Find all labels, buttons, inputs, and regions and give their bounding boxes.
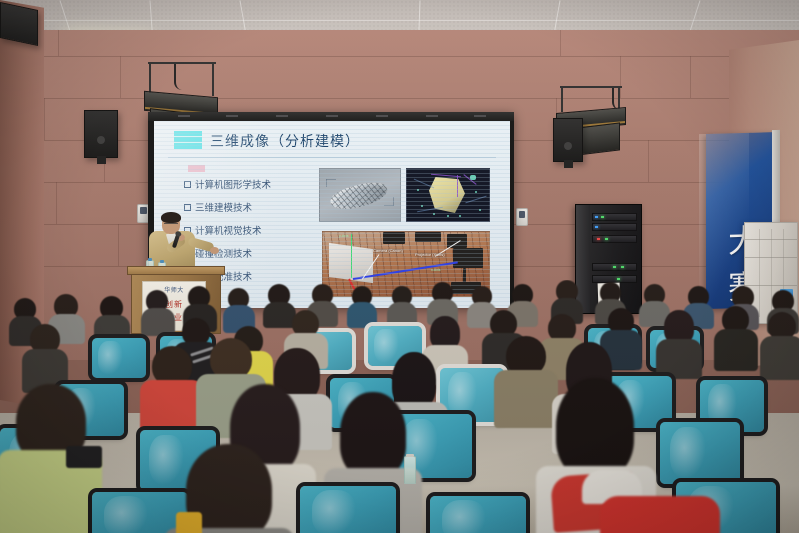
podium-top-surface <box>127 266 225 275</box>
list-item: 计算机图形学技术 <box>184 177 314 191</box>
y-axis-label: y-Axis <box>339 234 349 238</box>
y-axis-line <box>351 234 352 278</box>
speaker-cone <box>97 136 105 144</box>
wall-panel-joint <box>648 140 649 182</box>
chair[interactable] <box>300 486 396 533</box>
figure-guide-line <box>326 179 336 180</box>
torso <box>141 308 175 336</box>
camera-annotation-label: Camera (Canon) <box>373 248 403 253</box>
chair[interactable] <box>660 422 740 484</box>
cloud-point <box>447 215 449 217</box>
torso <box>656 339 702 379</box>
cloud-point <box>470 175 476 180</box>
projector-annotation-label: Projector (Xsiris) <box>415 252 445 257</box>
slide-highlight-mark <box>188 165 205 172</box>
torso <box>714 329 758 371</box>
panel-display <box>519 211 525 218</box>
equipment-silhouette <box>383 232 405 244</box>
speaker-mount <box>97 156 106 164</box>
laptop-device <box>66 446 102 468</box>
bottle-cap <box>406 454 414 457</box>
rig-post <box>561 86 563 112</box>
torso <box>494 370 558 428</box>
wall-panel-joint <box>58 30 59 56</box>
wall-control-panel-right[interactable] <box>516 208 528 226</box>
3d-mesh-shape <box>328 179 389 213</box>
point-cloud-figure <box>406 168 490 222</box>
cloud-point <box>433 213 435 215</box>
screen-top-bezel <box>148 112 514 121</box>
presenter-hand-right <box>210 247 219 254</box>
torso <box>387 302 417 328</box>
mesh-model-figure <box>319 168 401 222</box>
projector-device <box>453 248 483 268</box>
cloud-wire <box>414 179 435 189</box>
figure-guide-line <box>326 179 327 187</box>
slide-title-rule <box>168 157 496 158</box>
figure-guide-line <box>393 197 394 206</box>
presenter-hair <box>161 212 181 223</box>
rack-unit[interactable] <box>592 213 637 221</box>
wall-panel-joint <box>118 224 119 266</box>
bottle-cap <box>160 260 164 263</box>
cloud-point <box>421 205 423 207</box>
cloud-wire <box>465 196 486 204</box>
bottle-cap <box>148 258 152 261</box>
equipment-silhouette <box>415 232 441 242</box>
x-axis-label: x-Axis <box>431 268 441 272</box>
lecture-hall-photo: 三维成像（分析建模） 计算机图形学技术 三维建模技术 计算机视觉技术 <box>0 0 799 533</box>
ceiling-grid-line <box>0 20 799 21</box>
speaker-cone <box>564 142 572 150</box>
torso <box>600 496 720 533</box>
list-item: 三维建模技术 <box>184 200 314 214</box>
bullet-label: 三维建模技术 <box>195 200 252 214</box>
rack-unit[interactable] <box>592 223 637 231</box>
chair[interactable] <box>92 338 146 378</box>
bullet-square-icon <box>184 181 191 188</box>
torso <box>347 302 377 328</box>
rig-post <box>212 62 214 96</box>
hair <box>556 378 634 478</box>
wall-panel-joint <box>120 56 121 98</box>
torso <box>760 336 799 380</box>
wall-speaker-right <box>553 118 583 162</box>
cloud-point <box>479 209 481 211</box>
rack-unit[interactable] <box>592 235 637 243</box>
wall-panel-joint <box>0 98 799 99</box>
yellow-bag <box>176 512 202 533</box>
wall-panel-joint <box>560 30 561 56</box>
presenter-glasses <box>164 223 178 227</box>
cloud-point <box>417 189 419 191</box>
slide-title: 三维成像（分析建模） <box>210 131 360 151</box>
slide-accent-block <box>174 131 202 149</box>
bullet-label: 计算机图形学技术 <box>195 177 271 191</box>
wall-panel-joint <box>690 56 691 98</box>
bullet-square-icon <box>184 204 191 211</box>
chair[interactable] <box>92 492 188 533</box>
cloud-point <box>475 191 477 193</box>
wall-panel-joint <box>44 98 45 140</box>
rack-unit[interactable] <box>592 263 637 271</box>
hair <box>340 392 406 478</box>
speaker-mount <box>564 160 573 168</box>
water-bottle <box>404 456 416 484</box>
wall-panel-joint <box>56 182 57 224</box>
audience-area <box>0 280 799 533</box>
cloud-edge <box>457 175 458 197</box>
chair[interactable] <box>430 496 526 533</box>
rig-cable <box>174 64 192 90</box>
cloud-point <box>459 215 461 217</box>
wall-speaker-left <box>84 110 118 158</box>
